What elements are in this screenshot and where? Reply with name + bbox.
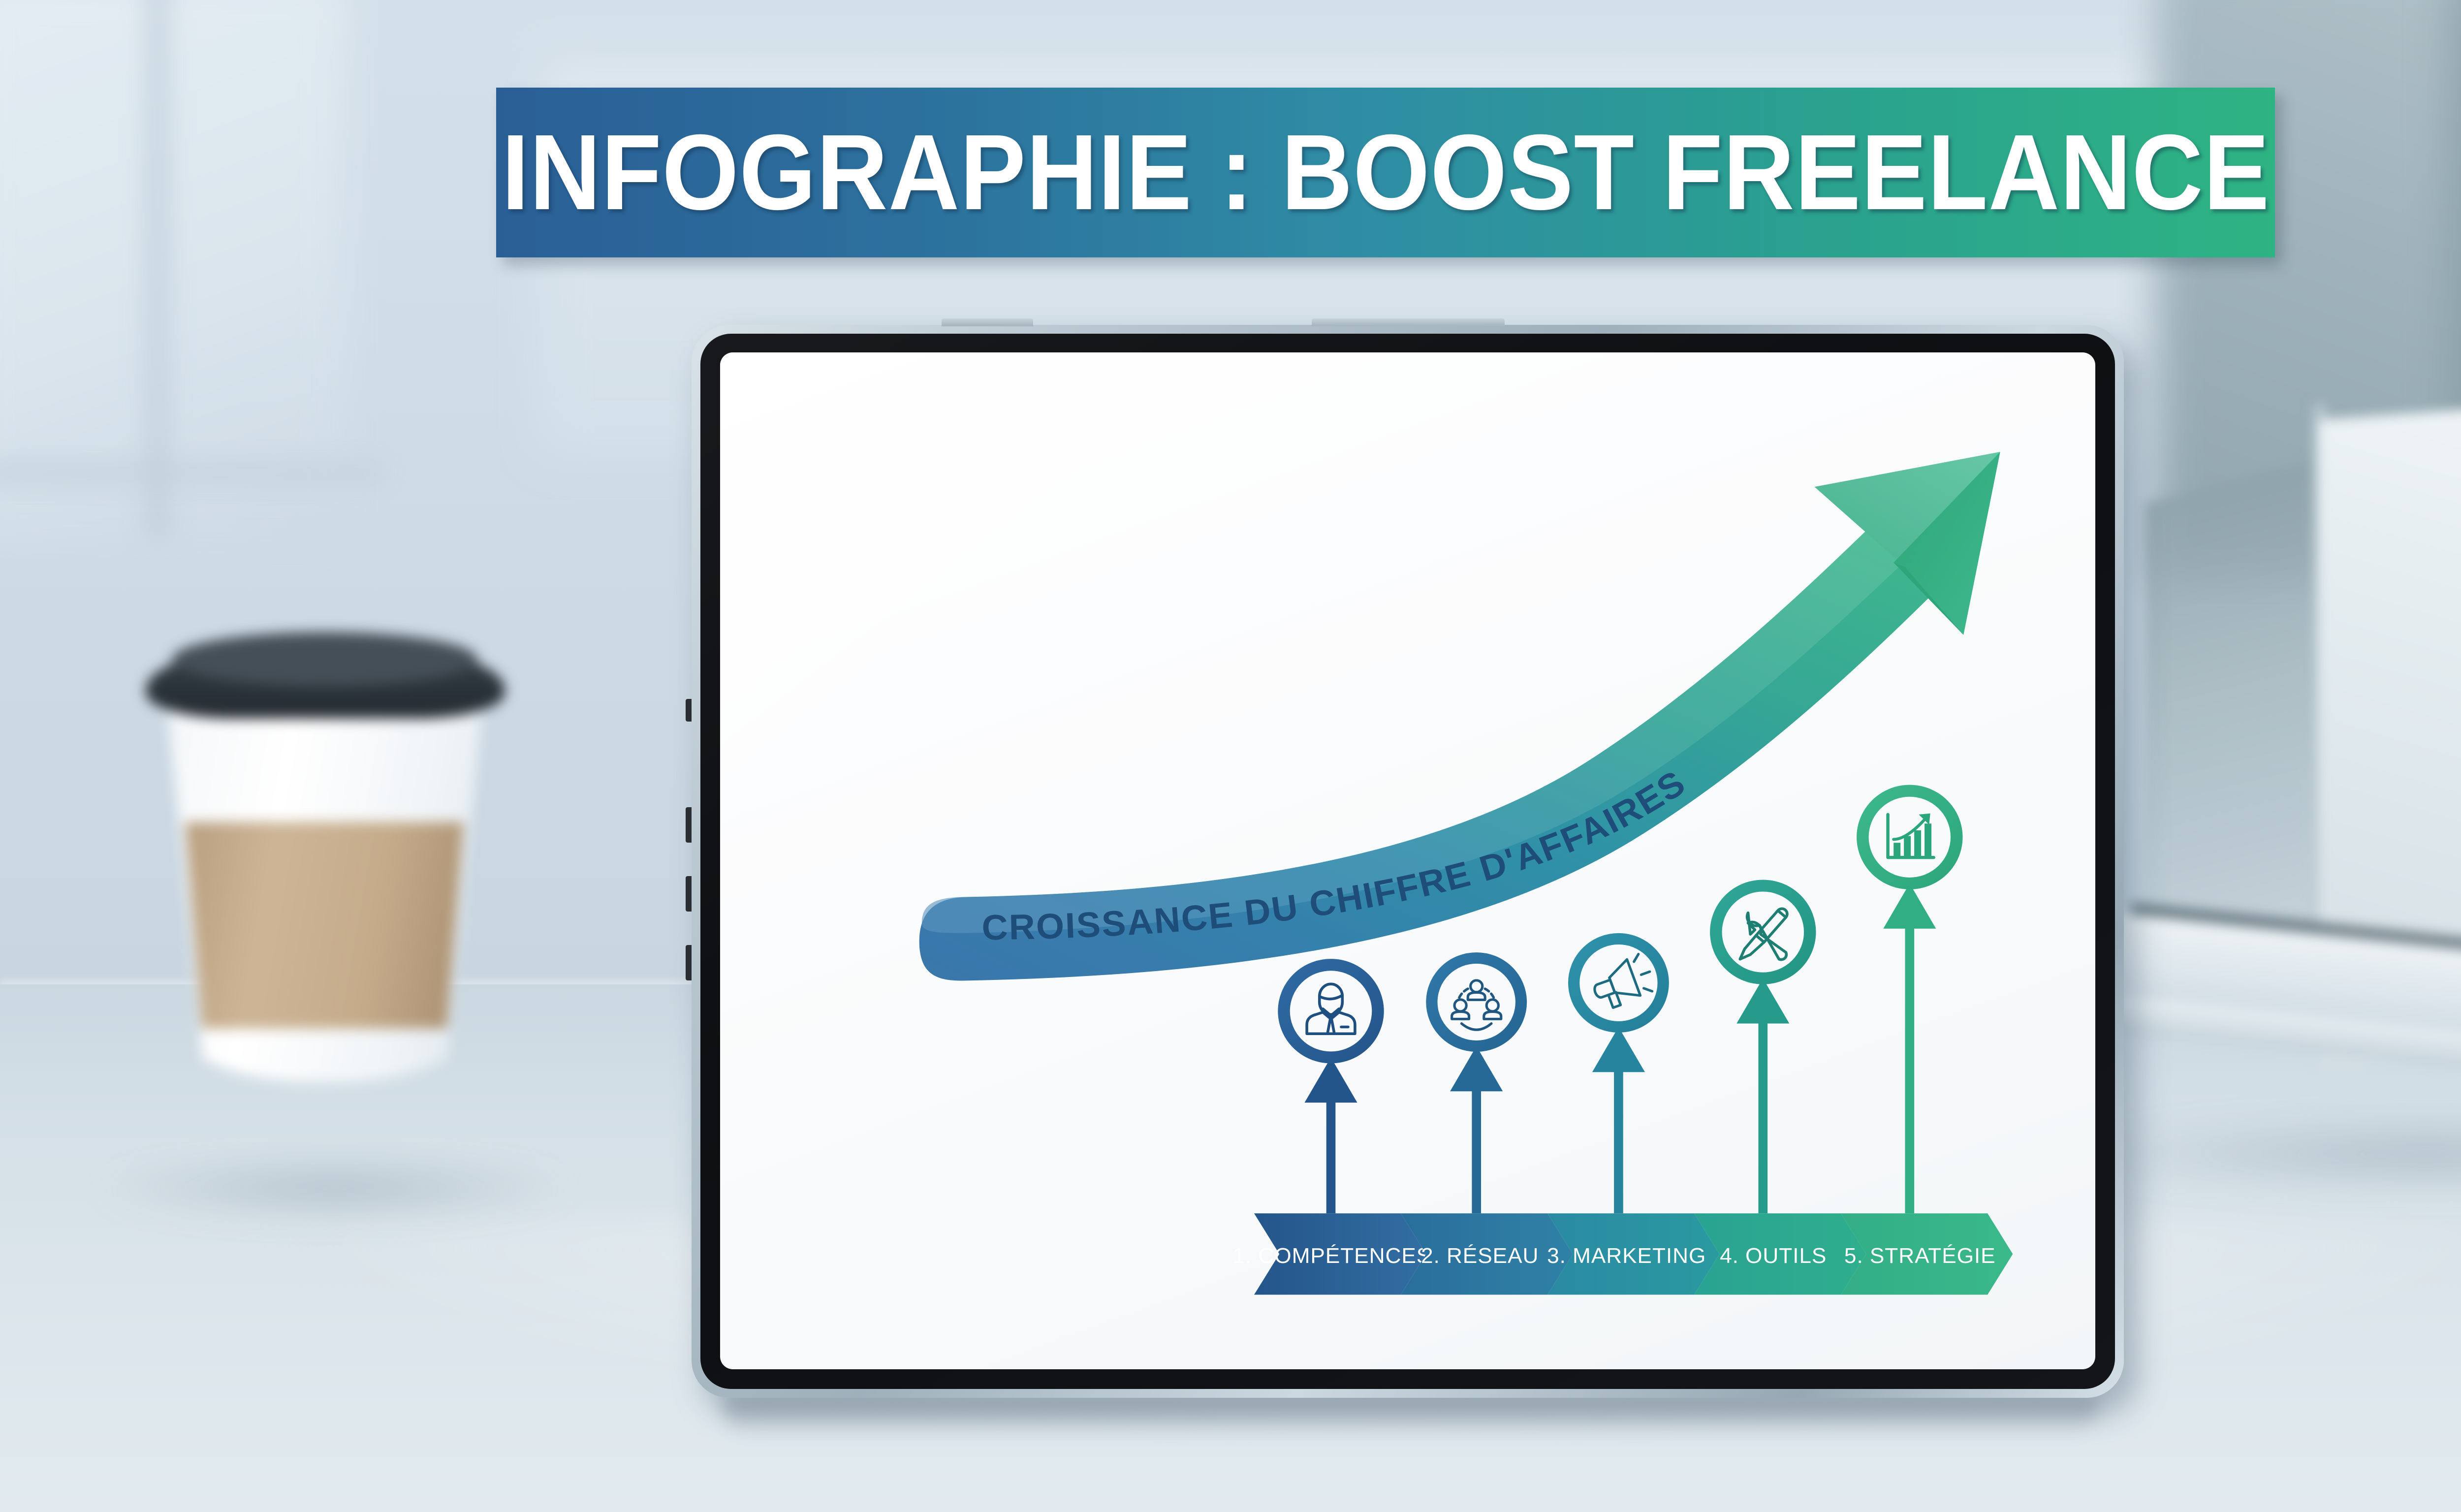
connector-arrow-3 [1592,1027,1645,1213]
chevron-step-5[interactable]: 5. STRATÉGIE [1841,1213,2013,1294]
chevron-step-4-label: 4. OUTILS [1720,1244,1827,1268]
step-1-icon-circle[interactable] [1284,965,1378,1057]
step-3-icon-circle[interactable] [1574,939,1664,1027]
infographic-canvas: CROISSANCE DU CHIFFRE D'AFFAIRES [720,352,2095,1369]
chevron-step-1-label: 1. COMPÉTENCES [1232,1244,1431,1268]
step-5-icon-circle[interactable] [1862,791,1956,883]
window-sill [0,463,384,482]
laptop [2082,404,2461,1142]
chevron-step-3-label: 3. MARKETING [1547,1244,1706,1268]
tablet-side-button[interactable] [686,945,692,980]
growth-chart-icon [1888,814,1934,858]
window-frame [148,0,167,541]
chevron-step-4[interactable]: 4. OUTILS [1694,1213,1866,1294]
tablet-reflection [724,1397,2097,1436]
step-connectors [1304,883,1936,1213]
coffee-cup-lid-top [172,632,477,686]
connector-arrow-2 [1450,1046,1503,1213]
connector-arrow-1 [1304,1057,1357,1213]
chevron-step-3[interactable]: 3. MARKETING [1547,1213,1719,1294]
chevron-step-5-label: 5. STRATÉGIE [1844,1244,1996,1268]
tablet-button-top-small[interactable] [942,318,1033,326]
businessman-icon [1307,984,1355,1034]
step-4-icon-circle[interactable] [1716,886,1810,978]
tablet-volume-up-button[interactable] [686,807,692,843]
megaphone-icon [1588,952,1657,1011]
tablet-button-top-large[interactable] [1312,318,1505,326]
tablet-screen[interactable]: CROISSANCE DU CHIFFRE D'AFFAIRES [720,352,2095,1369]
tablet-volume-down-button[interactable] [686,876,692,912]
chevron-step-1[interactable]: 1. COMPÉTENCES [1232,1213,1431,1294]
network-people-icon [1452,980,1501,1030]
growth-arrow [919,452,2000,980]
tablet-device: CROISSANCE DU CHIFFRE D'AFFAIRES [692,325,2124,1398]
connector-arrow-4 [1736,978,1789,1213]
scene-stage: INFOGRAPHIE : BOOST FREELANCE [0,0,2461,1512]
title-banner: INFOGRAPHIE : BOOST FREELANCE [496,88,2275,257]
tablet-side-port [686,699,692,722]
coffee-cup-sleeve [185,822,464,1029]
chevron-step-2-label: 2. RÉSEAU [1421,1244,1539,1268]
step-chevron-bar: 1. COMPÉTENCES 2. RÉSEAU 3. MARKETING 4.… [1232,1213,2013,1294]
coffee-cup [143,640,507,1171]
page-title: INFOGRAPHIE : BOOST FREELANCE [502,119,2270,226]
tools-icon [1740,909,1787,959]
connector-arrow-5 [1883,883,1936,1213]
background-panel-right-secondary [2451,0,2461,463]
step-2-icon-circle[interactable] [1432,958,1521,1046]
